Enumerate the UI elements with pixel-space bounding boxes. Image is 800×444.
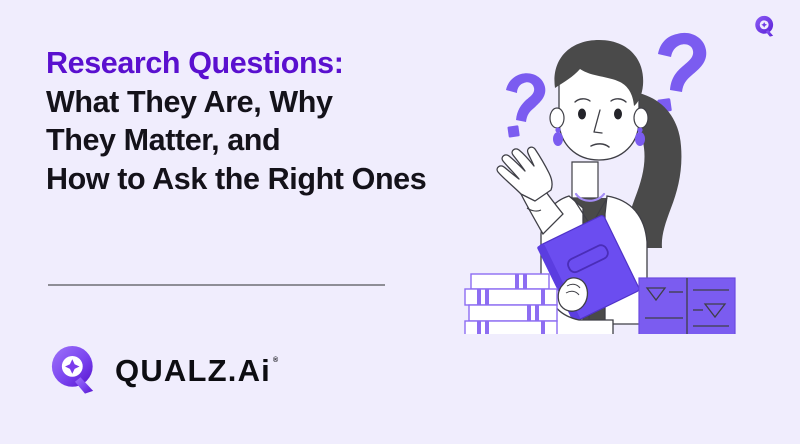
logo-wordmark: QUALZ.Ai ® xyxy=(115,355,279,386)
qualz-q-sparkle-icon xyxy=(46,341,104,399)
headline-line-2: What They Are, Why xyxy=(46,83,476,122)
woman-thinking-with-books-illustration xyxy=(455,22,785,334)
purple-document-panel xyxy=(639,278,735,334)
question-mark-small-shape xyxy=(506,73,545,137)
neck xyxy=(572,162,598,198)
question-mark-large-shape xyxy=(657,33,706,113)
divider xyxy=(48,284,385,286)
logo-trademark: ® xyxy=(273,357,279,364)
book-stack xyxy=(465,274,557,334)
poster-canvas: Research Questions: What They Are, Why T… xyxy=(0,0,800,444)
brand-logo: QUALZ.Ai ® xyxy=(46,341,279,399)
page-title: Research Questions: What They Are, Why T… xyxy=(46,44,476,198)
headline-line-1: Research Questions: xyxy=(46,44,476,83)
headline-line-4: How to Ask the Right Ones xyxy=(46,160,476,199)
headline-line-3: They Matter, and xyxy=(46,121,476,160)
logo-wordmark-text: QUALZ.Ai xyxy=(115,355,271,386)
